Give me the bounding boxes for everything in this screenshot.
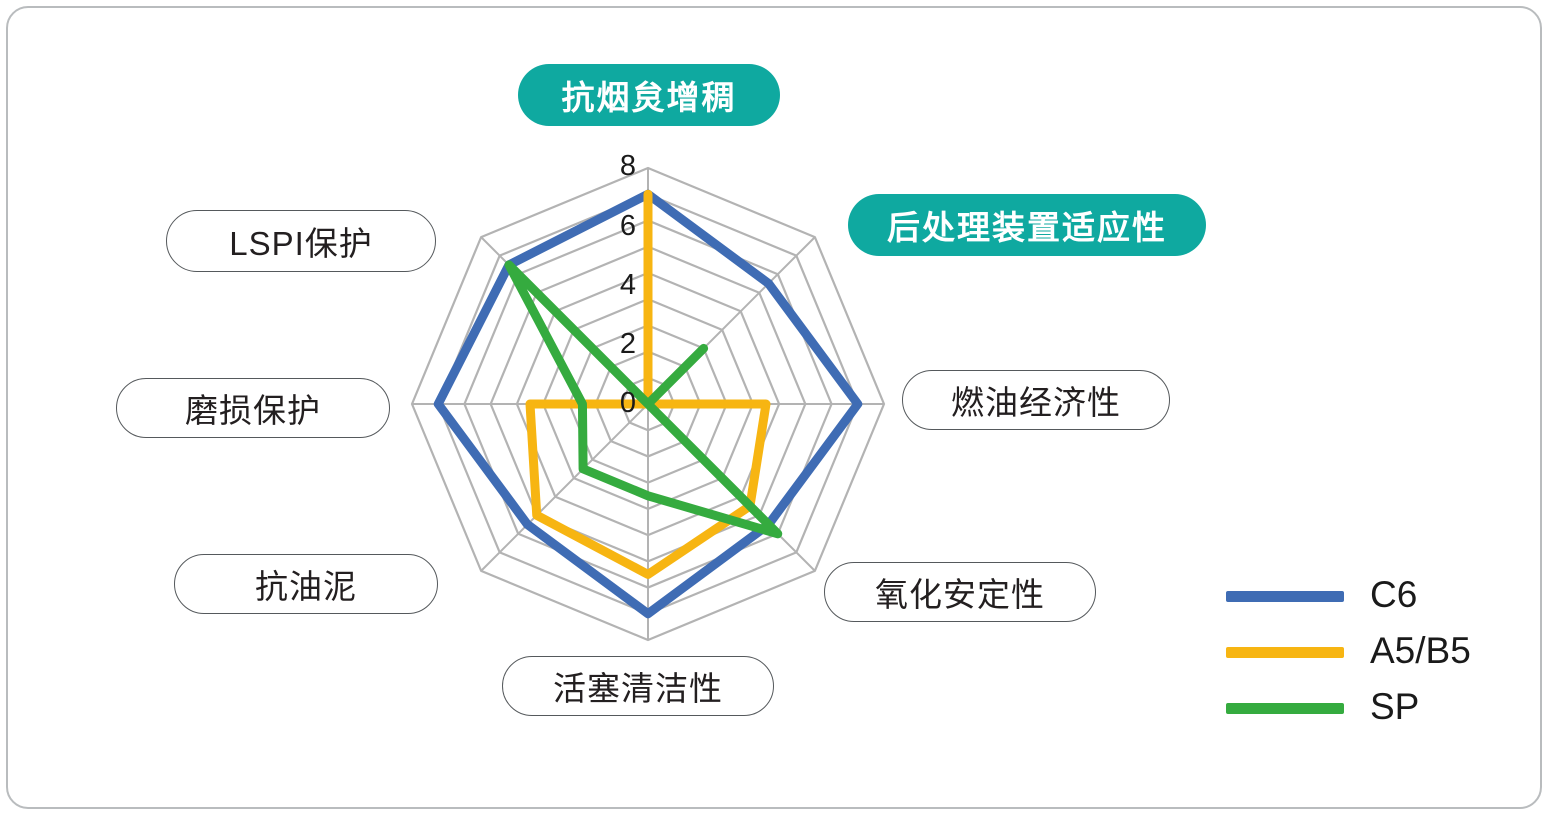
axis-label-piston-cleanliness: 活塞清洁性: [502, 656, 774, 716]
legend-item-c6: C6: [1226, 568, 1471, 624]
axis-label-aftertreatment-compatibility: 后处理装置适应性: [848, 194, 1206, 256]
legend-item-sp: SP: [1226, 680, 1471, 736]
chart-card: 8 6 4 2 0 抗烟炱增稠 后处理装置适应性 燃油经济性 氧化安定性 活塞清…: [6, 6, 1542, 809]
tick-label-4: 4: [596, 269, 636, 302]
axis-label-fuel-economy: 燃油经济性: [902, 370, 1170, 430]
axis-label-wear-protection: 磨损保护: [116, 378, 390, 438]
series-sp: [509, 265, 778, 534]
legend-swatch-a5b5: [1226, 647, 1344, 658]
tick-label-8: 8: [596, 150, 636, 183]
tick-label-2: 2: [596, 328, 636, 361]
axis-label-oxidation-stability: 氧化安定性: [824, 562, 1096, 622]
legend-label-a5b5: A5/B5: [1370, 632, 1471, 669]
chart-legend: C6 A5/B5 SP: [1226, 568, 1471, 736]
legend-swatch-sp: [1226, 703, 1344, 714]
axis-label-lspi-protection: LSPI保护: [166, 210, 436, 272]
legend-item-a5b5: A5/B5: [1226, 624, 1471, 680]
axis-label-sludge-resistance: 抗油泥: [174, 554, 438, 614]
axis-label-soot-thickening: 抗烟炱增稠: [518, 64, 780, 126]
tick-label-6: 6: [596, 210, 636, 243]
legend-swatch-c6: [1226, 591, 1344, 602]
legend-label-c6: C6: [1370, 576, 1417, 613]
tick-label-0: 0: [596, 387, 636, 420]
legend-label-sp: SP: [1370, 688, 1419, 725]
